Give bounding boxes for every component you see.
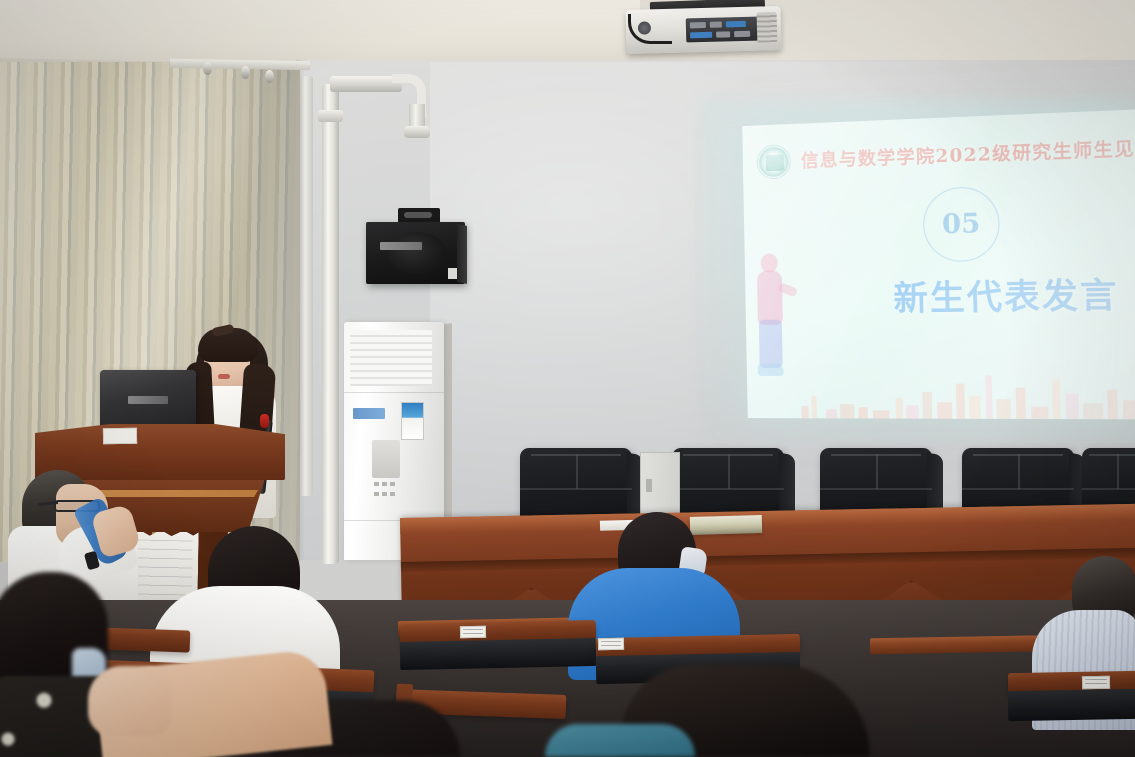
- skyline-building: [906, 405, 919, 418]
- foreground-hand: [88, 666, 172, 736]
- pipe-end-cap: [404, 126, 430, 138]
- monitor-brand-mark: [128, 396, 168, 404]
- speaker-cone: [388, 232, 446, 274]
- slide-title: 信息与数学学院2022级研究生师生见面会: [801, 133, 1135, 173]
- stacked-books: [690, 515, 762, 535]
- speaker-brand-mark: [380, 242, 422, 250]
- skyline-building: [811, 396, 816, 418]
- skyline-building: [858, 407, 867, 418]
- curtain-hook: [203, 62, 212, 75]
- skyline-building: [840, 404, 855, 418]
- skyline-building: [1031, 406, 1049, 419]
- wall-pipe-secondary: [300, 76, 313, 496]
- slide-section-circle: 05: [923, 186, 1001, 262]
- skyline-building: [1083, 403, 1103, 419]
- air-conditioner-brand: [353, 408, 385, 419]
- air-conditioner-grille: [350, 330, 432, 386]
- energy-efficiency-label: [401, 402, 424, 440]
- podium-desktop: [35, 424, 285, 480]
- seat-number-label: [598, 638, 624, 650]
- bench-seat-pad: [1008, 689, 1135, 721]
- microphone-indicator: [260, 414, 269, 428]
- wall-pipe-vertical: [322, 84, 339, 564]
- seat-number-label: [1082, 676, 1110, 689]
- skyline-building: [985, 375, 992, 419]
- wall-speaker: [366, 222, 465, 284]
- skyline-building: [895, 398, 903, 418]
- projector-vent: [757, 12, 778, 43]
- skyline-building: [873, 410, 890, 418]
- slide-skyline-graphic: [747, 364, 1135, 419]
- skyline-building: [997, 399, 1011, 419]
- skyline-building: [969, 396, 981, 419]
- skyline-building: [1052, 379, 1060, 419]
- slide-section-heading: 新生代表发言: [893, 267, 1119, 320]
- table-rail: [401, 548, 1135, 572]
- skyline-building: [802, 406, 809, 418]
- pipe-collar: [318, 110, 343, 122]
- university-emblem-icon: [756, 144, 791, 179]
- air-conditioner-buttons[interactable]: [374, 482, 398, 486]
- skyline-building: [937, 402, 952, 419]
- lecture-hall-photo: 信息与数学学院2022级研究生师生见面会 05 新生代表发言: [0, 0, 1135, 757]
- curtain-hook: [265, 70, 274, 83]
- slide-section-number: 05: [924, 187, 999, 261]
- skyline-building: [956, 384, 965, 419]
- podium-monitor[interactable]: [100, 370, 196, 430]
- skyline-building: [1016, 388, 1026, 419]
- slide-person-illustration: [751, 253, 795, 384]
- skyline-building: [922, 392, 932, 419]
- speaker-bracket-bar: [404, 212, 432, 218]
- skyline-building: [826, 409, 837, 418]
- projection-screen: 信息与数学学院2022级研究生师生见面会 05 新生代表发言: [742, 109, 1135, 420]
- speaker-side-panel: [457, 224, 467, 284]
- seat-number-label: [460, 626, 486, 638]
- skyline-building: [1107, 390, 1118, 420]
- air-conditioner-buttons[interactable]: [374, 492, 398, 496]
- air-conditioner-display: [372, 440, 400, 478]
- presenter-mouth: [218, 374, 230, 379]
- curtain-hook: [241, 66, 250, 79]
- skyline-building: [1066, 394, 1080, 419]
- bench-seat-pad: [400, 638, 597, 670]
- podium-label-card: [103, 428, 137, 445]
- foreground-person-teal-top: [545, 724, 695, 757]
- skyline-building: [1123, 400, 1135, 419]
- projector-port-panel: [686, 16, 765, 42]
